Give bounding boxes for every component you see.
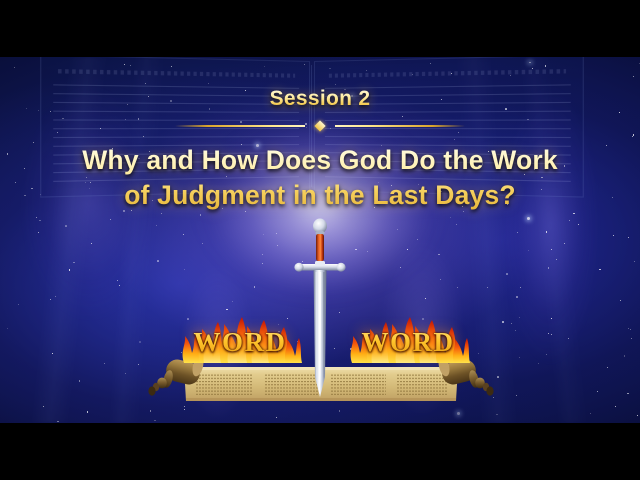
letterbox-top <box>0 0 640 57</box>
star <box>502 321 504 323</box>
page-title: Why and How Does God Do the Work of Judg… <box>0 143 640 213</box>
star <box>628 328 629 329</box>
title-divider <box>175 120 465 132</box>
star <box>569 220 570 221</box>
star <box>36 217 37 218</box>
star <box>590 413 592 415</box>
star <box>538 363 539 364</box>
title-block: Session 2 Why and How Does God Do the Wo… <box>0 57 640 213</box>
star <box>637 415 638 416</box>
star <box>161 213 162 214</box>
star <box>57 421 59 423</box>
word-label-left: WORD <box>176 327 304 358</box>
star <box>55 296 56 297</box>
star <box>564 243 565 244</box>
star <box>519 317 520 318</box>
star <box>79 380 81 382</box>
star <box>551 334 552 335</box>
star <box>515 330 516 331</box>
star <box>516 296 518 298</box>
divider-bar-right <box>335 125 465 127</box>
star <box>138 364 139 365</box>
title-line-1: Why and How Does God Do the Work <box>0 143 640 178</box>
star <box>506 273 508 275</box>
star <box>599 269 600 270</box>
star <box>497 376 499 378</box>
star <box>528 250 530 252</box>
star <box>276 417 277 418</box>
star <box>548 267 550 269</box>
star <box>634 261 635 262</box>
divider-bar-left <box>175 125 305 127</box>
star <box>615 406 616 407</box>
star <box>496 414 497 415</box>
star <box>110 219 111 220</box>
star <box>50 299 51 300</box>
star <box>607 367 608 368</box>
star <box>117 280 118 281</box>
word-emblem-right: WORD <box>344 305 472 377</box>
star <box>551 318 552 319</box>
star <box>73 262 74 263</box>
star <box>627 393 629 395</box>
video-title-card: Session 2 Why and How Does God Do the Wo… <box>0 0 640 480</box>
star <box>65 225 67 227</box>
star <box>620 300 621 301</box>
star <box>630 329 631 330</box>
star <box>43 406 44 407</box>
star <box>527 217 530 220</box>
letterbox-bottom <box>0 423 640 480</box>
star <box>39 220 40 221</box>
star <box>104 363 105 364</box>
star <box>548 333 549 334</box>
star <box>520 287 521 288</box>
star <box>516 395 517 396</box>
word-label-right: WORD <box>344 327 472 358</box>
star <box>487 287 488 288</box>
star <box>139 341 141 343</box>
title-line-2: of Judgment in the Last Days? <box>0 178 640 213</box>
star <box>87 411 88 412</box>
star <box>517 232 518 233</box>
star <box>613 235 614 236</box>
star <box>38 232 39 233</box>
star <box>91 243 92 244</box>
star <box>156 225 157 226</box>
star <box>154 420 156 422</box>
video-content-area: Session 2 Why and How Does God Do the Wo… <box>0 57 640 423</box>
star <box>631 338 632 339</box>
session-label: Session 2 <box>0 87 640 111</box>
star <box>628 237 629 238</box>
star <box>556 259 557 260</box>
star <box>457 412 460 415</box>
star <box>69 269 70 270</box>
star <box>511 323 512 324</box>
diamond-ornament-icon <box>314 120 325 131</box>
star <box>546 231 548 233</box>
star <box>519 357 520 358</box>
star <box>568 338 569 339</box>
star <box>52 353 53 354</box>
star <box>597 391 598 392</box>
star <box>551 249 552 250</box>
star <box>125 373 126 374</box>
star <box>18 304 19 305</box>
star <box>578 224 579 225</box>
star <box>546 354 547 355</box>
star <box>157 260 159 262</box>
star <box>7 328 8 329</box>
star <box>119 285 120 286</box>
word-emblem-left: WORD <box>176 305 304 377</box>
star <box>624 355 625 356</box>
